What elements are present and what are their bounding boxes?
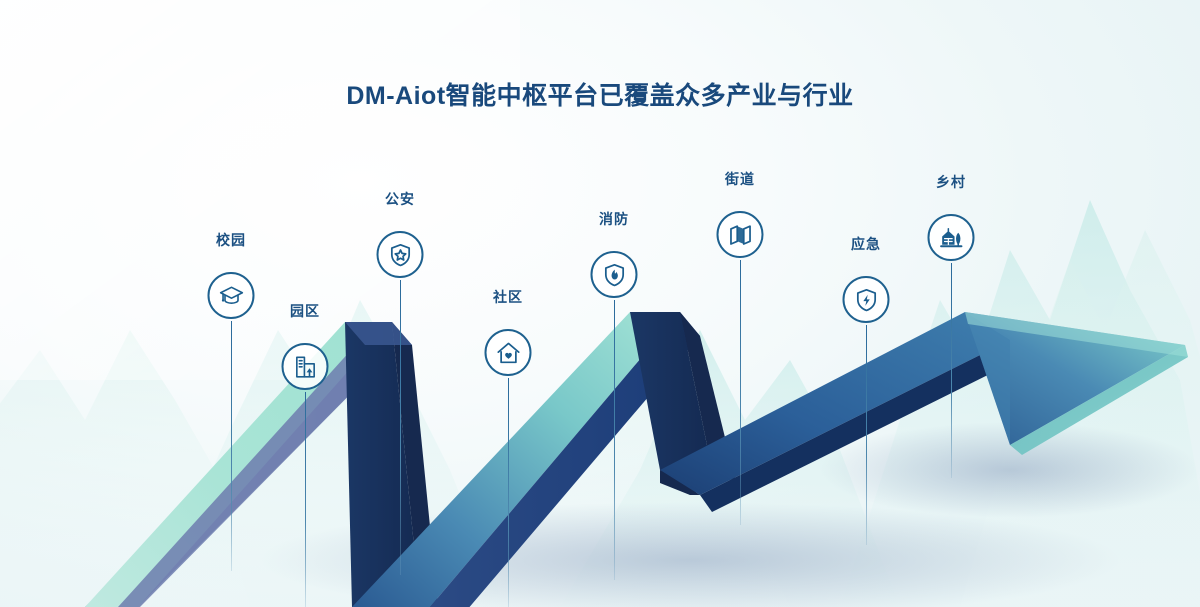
- ribbon1-side: [85, 327, 372, 607]
- arrowhead-inner: [965, 312, 1010, 445]
- mountain-center-peak: [560, 330, 900, 607]
- marker-label: 应急: [851, 234, 881, 254]
- ribbon1-lip: [118, 327, 392, 607]
- ribbon5-joint: [660, 470, 700, 495]
- marker-stem: [305, 392, 306, 607]
- marker-stem: [614, 300, 615, 580]
- infographic-canvas: DM-Aiot智能中枢平台已覆盖众多产业与行业 校园 园区: [0, 0, 1200, 607]
- marker-label: 街道: [725, 169, 755, 189]
- marker-label: 消防: [599, 209, 629, 229]
- marker-label: 校园: [216, 230, 246, 250]
- fire-shield-icon[interactable]: [591, 251, 638, 298]
- ribbon3-lip: [430, 312, 700, 607]
- village-house-icon[interactable]: [928, 214, 975, 261]
- ribbon1-top: [85, 322, 392, 607]
- arrow-shadow-right: [820, 422, 1200, 518]
- mountain-right-back: [960, 230, 1200, 607]
- marker-label: 园区: [290, 301, 320, 321]
- arrowhead-side: [1010, 345, 1188, 455]
- arrow-shadow: [260, 502, 1120, 607]
- ribbon5-lip: [700, 340, 1022, 512]
- arrowhead-top: [965, 312, 1185, 445]
- page-title: DM-Aiot智能中枢平台已覆盖众多产业与行业: [0, 76, 1200, 112]
- marker-label: 乡村: [936, 172, 966, 192]
- arrowhead-lip: [965, 312, 1188, 357]
- ribbon2-front: [345, 322, 420, 607]
- marker-stem: [231, 321, 232, 571]
- marker-label: 公安: [385, 189, 415, 209]
- mountain-right: [840, 200, 1200, 607]
- ribbon5-top: [660, 312, 1010, 495]
- emergency-bolt-icon[interactable]: [843, 276, 890, 323]
- community-home-icon[interactable]: [485, 329, 532, 376]
- industrial-park-icon[interactable]: [282, 343, 329, 390]
- ribbon4-side: [680, 312, 735, 478]
- ribbon4-front: [630, 312, 712, 470]
- folded-map-icon[interactable]: [717, 211, 764, 258]
- mountain-far-left: [0, 330, 250, 607]
- police-shield-icon[interactable]: [377, 231, 424, 278]
- marker-stem: [740, 260, 741, 525]
- ribbon4-bottom: [660, 470, 735, 495]
- mountain-left: [150, 300, 505, 607]
- ribbon2-side: [392, 322, 438, 607]
- ribbon1-edge: [85, 327, 392, 607]
- marker-stem: [508, 378, 509, 607]
- marker-stem: [400, 280, 401, 575]
- marker-stem: [951, 263, 952, 478]
- glow-overlay: [0, 0, 520, 380]
- graduation-cap-icon[interactable]: [208, 272, 255, 319]
- marker-stem: [866, 325, 867, 545]
- marker-label: 社区: [493, 287, 523, 307]
- ribbon2-top-lip: [345, 322, 412, 345]
